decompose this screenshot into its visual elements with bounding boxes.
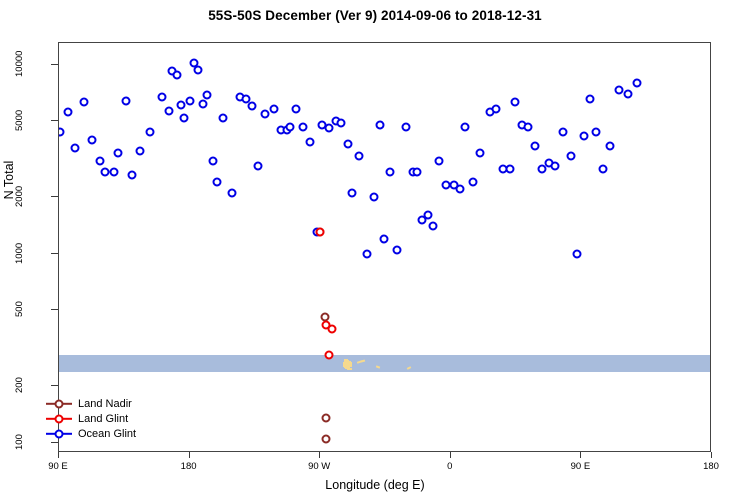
data-point [455, 184, 464, 193]
data-point [146, 127, 155, 136]
data-point [336, 119, 345, 128]
data-point [551, 162, 560, 171]
data-point [269, 105, 278, 114]
data-point [510, 98, 519, 107]
data-point [461, 122, 470, 131]
y-axis-tick-label: 5000 [14, 98, 48, 142]
legend: Land NadirLand GlintOcean Glint [46, 396, 136, 441]
y-axis-tick [51, 253, 58, 254]
x-axis-tick-label: 90 E [571, 461, 591, 472]
data-point [185, 97, 194, 106]
y-axis-tick [51, 442, 58, 443]
data-point [95, 156, 104, 165]
x-axis-tick [319, 452, 320, 458]
x-axis-tick-label: 90 W [308, 461, 330, 472]
data-point [343, 139, 352, 148]
data-point [324, 124, 333, 133]
data-point [208, 156, 217, 165]
x-axis-tick [189, 452, 190, 458]
y-axis-tick-label: 100 [14, 420, 48, 464]
data-point [506, 165, 515, 174]
data-point [435, 156, 444, 165]
data-point [324, 351, 333, 360]
data-point [127, 171, 136, 180]
data-point [247, 102, 256, 111]
data-point [121, 97, 130, 106]
data-point [158, 93, 167, 102]
data-point [176, 101, 185, 110]
data-point [530, 142, 539, 151]
y-axis-tick-label: 500 [14, 287, 48, 331]
data-point [253, 162, 262, 171]
x-axis-tick [450, 452, 451, 458]
x-axis-tick-label: 90 E [48, 461, 68, 472]
ocean-band [59, 355, 710, 372]
legend-item-label: Land Nadir [78, 398, 132, 410]
chart-page: 55S-50S December (Ver 9) 2014-09-06 to 2… [0, 0, 750, 500]
y-axis-tick-label: 200 [14, 363, 48, 407]
data-point [316, 227, 325, 236]
x-axis-tick [711, 452, 712, 458]
data-point [165, 106, 174, 115]
data-point [393, 245, 402, 254]
data-point [401, 122, 410, 131]
data-point [203, 90, 212, 99]
y-axis-tick-label: 2000 [14, 174, 48, 218]
data-point [101, 167, 110, 176]
legend-item-label: Ocean Glint [78, 428, 136, 440]
y-axis-tick [51, 309, 58, 310]
data-point [63, 108, 72, 117]
data-point [348, 188, 357, 197]
data-point [567, 151, 576, 160]
landmass-shape [349, 368, 352, 371]
data-point [322, 434, 331, 443]
x-axis-tick-label: 180 [703, 461, 719, 472]
y-axis-tick [51, 385, 58, 386]
data-point [285, 122, 294, 131]
x-axis-tick-label: 0 [447, 461, 452, 472]
legend-item-label: Land Glint [78, 413, 128, 425]
data-point [88, 135, 97, 144]
data-point [475, 149, 484, 158]
data-point [322, 320, 331, 329]
data-point [355, 151, 364, 160]
data-point [606, 142, 615, 151]
data-point [172, 71, 181, 80]
data-point [591, 127, 600, 136]
legend-marker-icon [46, 398, 72, 410]
data-point [110, 167, 119, 176]
data-point [291, 105, 300, 114]
x-axis-tick [58, 452, 59, 458]
data-point [79, 98, 88, 107]
data-point [198, 99, 207, 108]
legend-marker-icon [46, 413, 72, 425]
data-point [623, 89, 632, 98]
y-axis-tick-label: 10000 [14, 42, 48, 86]
legend-item-ocean-glint[interactable]: Ocean Glint [46, 426, 136, 441]
data-point [558, 127, 567, 136]
data-point [429, 221, 438, 230]
data-point [114, 149, 123, 158]
data-point [385, 167, 394, 176]
data-point [298, 122, 307, 131]
data-point [362, 249, 371, 258]
x-axis-tick [580, 452, 581, 458]
data-point [261, 109, 270, 118]
data-point [468, 177, 477, 186]
data-point [599, 165, 608, 174]
data-point [586, 94, 595, 103]
data-point [615, 86, 624, 95]
data-point [369, 192, 378, 201]
data-point [523, 122, 532, 131]
y-axis-tick [51, 64, 58, 65]
data-point [375, 120, 384, 129]
legend-item-land-nadir[interactable]: Land Nadir [46, 396, 136, 411]
y-axis-tick-label: 1000 [14, 231, 48, 275]
legend-marker-icon [46, 428, 72, 440]
y-axis-tick [51, 120, 58, 121]
y-axis-tick [51, 196, 58, 197]
data-point [179, 114, 188, 123]
plot-area [58, 42, 711, 452]
data-point [70, 144, 79, 153]
data-point [413, 167, 422, 176]
data-point [227, 188, 236, 197]
x-axis-label: Longitude (deg E) [0, 478, 750, 492]
data-point [58, 127, 65, 136]
data-point [423, 210, 432, 219]
legend-item-land-glint[interactable]: Land Glint [46, 411, 136, 426]
data-point [213, 177, 222, 186]
data-point [491, 105, 500, 114]
page-title: 55S-50S December (Ver 9) 2014-09-06 to 2… [0, 8, 750, 23]
data-point [136, 146, 145, 155]
data-point [322, 413, 331, 422]
data-point [218, 114, 227, 123]
data-point [580, 131, 589, 140]
data-point [573, 249, 582, 258]
landmass-shape [344, 359, 348, 362]
x-axis-tick-label: 180 [181, 461, 197, 472]
data-point [632, 78, 641, 87]
data-point [380, 234, 389, 243]
data-point [306, 137, 315, 146]
data-point [194, 65, 203, 74]
